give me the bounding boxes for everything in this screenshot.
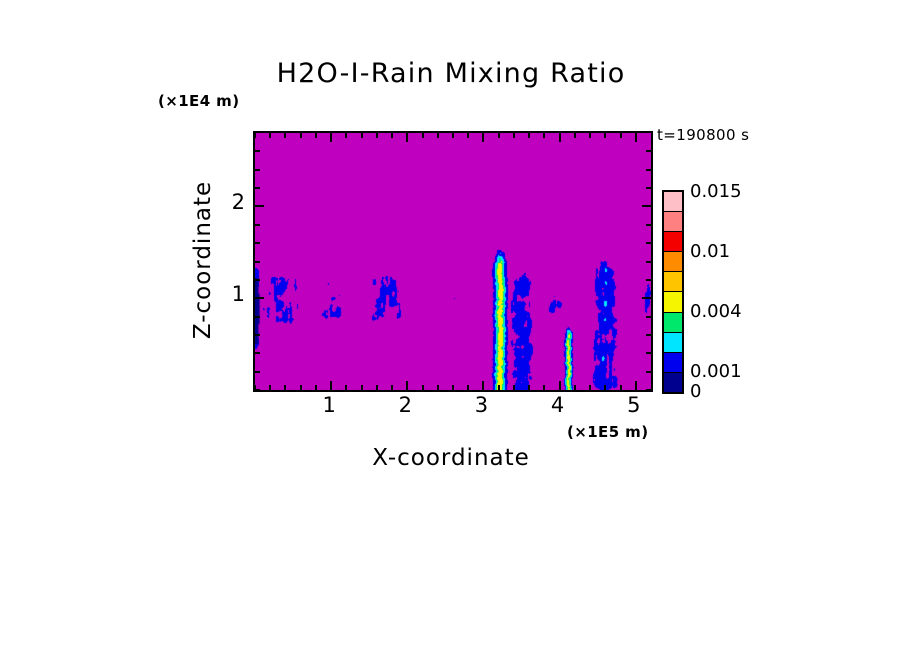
colorbar-band [664, 252, 682, 272]
y-minor-tick [255, 334, 260, 336]
y-minor-tick [255, 224, 260, 226]
x-major-tick-top [635, 133, 637, 142]
y-minor-tick [255, 371, 260, 373]
x-axis-title: X-coordinate [253, 445, 649, 471]
x-minor-tick [452, 385, 454, 390]
x-minor-tick-top [422, 133, 424, 138]
y-minor-tick-right [646, 224, 651, 226]
y-minor-tick-right [646, 371, 651, 373]
y-minor-tick [255, 352, 260, 354]
y-minor-tick [255, 316, 260, 318]
y-major-tick-right [642, 297, 651, 299]
x-minor-tick-top [528, 133, 530, 138]
x-minor-tick-top [589, 133, 591, 138]
x-minor-tick-top [437, 133, 439, 138]
y-minor-tick [255, 242, 260, 244]
x-minor-tick-top [300, 133, 302, 138]
y-minor-tick [255, 279, 260, 281]
x-minor-tick [437, 385, 439, 390]
x-minor-tick-top [269, 133, 271, 138]
y-minor-tick-right [646, 150, 651, 152]
rain-mixing-ratio-field [255, 133, 651, 390]
x-minor-tick [604, 385, 606, 390]
colorbar-tick-label: 0.004 [690, 301, 742, 322]
colorbar-tick-label: 0.001 [690, 361, 742, 382]
colorbar-band [664, 292, 682, 312]
x-minor-tick [513, 385, 515, 390]
colorbar-band [664, 313, 682, 333]
x-minor-tick-top [498, 133, 500, 138]
x-major-tick-top [330, 133, 332, 142]
x-minor-tick-top [467, 133, 469, 138]
x-minor-tick [376, 385, 378, 390]
x-minor-tick-top [345, 133, 347, 138]
x-major-tick [330, 381, 332, 390]
x-minor-tick-top [315, 133, 317, 138]
x-minor-tick [300, 385, 302, 390]
x-tick-label: 5 [614, 393, 654, 417]
time-annotation: t=190800 s [657, 126, 749, 144]
x-minor-tick-top [574, 133, 576, 138]
x-minor-tick [543, 385, 545, 390]
x-minor-tick-top [391, 133, 393, 138]
y-minor-tick-right [646, 261, 651, 263]
x-minor-tick [391, 385, 393, 390]
x-minor-tick [528, 385, 530, 390]
plot-area [253, 131, 653, 392]
y-tick-label: 2 [213, 190, 245, 214]
y-minor-tick-right [646, 169, 651, 171]
x-minor-tick [345, 385, 347, 390]
x-tick-label: 4 [538, 393, 578, 417]
y-major-tick-right [642, 205, 651, 207]
y-minor-tick-right [646, 316, 651, 318]
y-minor-tick [255, 150, 260, 152]
x-tick-label: 3 [461, 393, 501, 417]
x-major-tick [482, 381, 484, 390]
x-minor-tick-top [376, 133, 378, 138]
x-axis-unit-label: (×1E5 m) [567, 423, 648, 441]
x-minor-tick [467, 385, 469, 390]
x-minor-tick [620, 385, 622, 390]
colorbar-band [664, 353, 682, 373]
y-minor-tick-right [646, 279, 651, 281]
x-minor-tick [315, 385, 317, 390]
page-title: H2O-I-Rain Mixing Ratio [253, 58, 649, 89]
figure-canvas: H2O-I-Rain Mixing Ratio (×1E4 m) (×1E5 m… [0, 0, 904, 654]
y-minor-tick-right [646, 242, 651, 244]
colorbar [662, 190, 684, 394]
y-axis-unit-label: (×1E4 m) [158, 92, 239, 110]
x-minor-tick-top [452, 133, 454, 138]
y-minor-tick-right [646, 187, 651, 189]
y-major-tick [255, 297, 264, 299]
colorbar-band [664, 232, 682, 252]
x-minor-tick-top [604, 133, 606, 138]
y-minor-tick [255, 389, 260, 391]
y-minor-tick [255, 169, 260, 171]
x-minor-tick-top [284, 133, 286, 138]
x-major-tick [406, 381, 408, 390]
x-major-tick-top [482, 133, 484, 142]
x-minor-tick-top [513, 133, 515, 138]
x-minor-tick-top [254, 133, 256, 138]
y-minor-tick-right [646, 352, 651, 354]
x-tick-label: 1 [309, 393, 349, 417]
y-major-tick [255, 205, 264, 207]
x-major-tick-top [559, 133, 561, 142]
y-axis-title: Z-coordinate [190, 150, 216, 370]
x-minor-tick [589, 385, 591, 390]
colorbar-tick-label: 0.015 [690, 181, 742, 202]
colorbar-band [664, 373, 682, 392]
x-minor-tick [422, 385, 424, 390]
colorbar-tick-label: 0 [690, 381, 701, 402]
colorbar-band [664, 192, 682, 212]
colorbar-band [664, 212, 682, 232]
x-minor-tick [574, 385, 576, 390]
x-minor-tick [284, 385, 286, 390]
y-minor-tick-right [646, 389, 651, 391]
y-minor-tick [255, 187, 260, 189]
colorbar-band [664, 333, 682, 353]
x-minor-tick-top [361, 133, 363, 138]
x-minor-tick [361, 385, 363, 390]
y-minor-tick [255, 261, 260, 263]
x-major-tick [559, 381, 561, 390]
y-minor-tick-right [646, 334, 651, 336]
colorbar-band [664, 272, 682, 292]
colorbar-tick-label: 0.01 [690, 241, 730, 262]
x-minor-tick [269, 385, 271, 390]
x-minor-tick-top [543, 133, 545, 138]
x-minor-tick [498, 385, 500, 390]
x-tick-label: 2 [385, 393, 425, 417]
x-major-tick-top [406, 133, 408, 142]
x-major-tick [635, 381, 637, 390]
y-tick-label: 1 [213, 282, 245, 306]
x-minor-tick-top [620, 133, 622, 138]
